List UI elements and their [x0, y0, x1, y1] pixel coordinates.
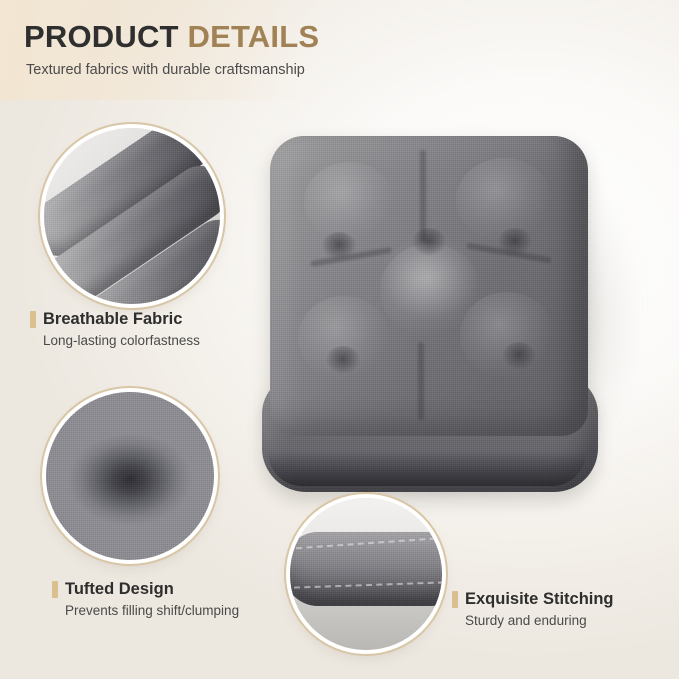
- feature-image-exquisite-stitching: [290, 498, 442, 650]
- tufted-dimple-swatch: [46, 392, 214, 560]
- feature-breathable-fabric: [44, 128, 220, 304]
- accent-bar-icon: [30, 311, 36, 328]
- accent-bar-icon: [52, 581, 58, 598]
- feature-image-breathable-fabric: [44, 128, 220, 304]
- fabric-weave-texture: [46, 392, 214, 560]
- feature-image-tufted-design: [46, 392, 214, 560]
- feature-subtitle: Long-lasting colorfastness: [43, 333, 200, 348]
- cushion-illustration: [262, 136, 602, 476]
- product-photo: [238, 88, 658, 508]
- caption-breathable-fabric: Breathable Fabric Long-lasting colorfast…: [30, 310, 200, 348]
- tuft-button: [498, 228, 532, 256]
- tuft-button: [322, 232, 356, 260]
- cushion-puff: [304, 162, 394, 242]
- feature-title: Exquisite Stitching: [452, 590, 614, 609]
- cushion-puff: [456, 158, 552, 242]
- cushion-seam: [418, 342, 424, 420]
- page-subtitle: Textured fabrics with durable craftsmans…: [26, 62, 444, 78]
- page-title-strong: PRODUCT: [24, 19, 188, 54]
- cushion-backrest: [270, 136, 588, 436]
- caption-tufted-design: Tufted Design Prevents filling shift/clu…: [52, 580, 239, 618]
- feature-tufted-design: [46, 392, 214, 560]
- feature-title-text: Tufted Design: [65, 580, 174, 599]
- feature-title-text: Exquisite Stitching: [465, 590, 614, 609]
- header: PRODUCT DETAILS Textured fabrics with du…: [24, 20, 444, 78]
- rolled-fabric-swatch: [44, 128, 220, 304]
- seat-front-edge: [268, 452, 586, 486]
- feature-title-text: Breathable Fabric: [43, 310, 182, 329]
- feature-title: Breathable Fabric: [30, 310, 200, 329]
- feature-subtitle: Prevents filling shift/clumping: [65, 603, 239, 618]
- tuft-button: [502, 342, 536, 370]
- tuft-button: [326, 346, 360, 374]
- fabric-weave-texture: [44, 128, 220, 304]
- page-title: PRODUCT DETAILS: [24, 20, 444, 54]
- feature-exquisite-stitching: [290, 498, 442, 650]
- caption-exquisite-stitching: Exquisite Stitching Sturdy and enduring: [452, 590, 614, 628]
- tuft-button: [412, 228, 446, 256]
- stitched-edge-swatch: [290, 498, 442, 650]
- page-title-accent: DETAILS: [188, 19, 320, 54]
- accent-bar-icon: [452, 591, 458, 608]
- feature-subtitle: Sturdy and enduring: [465, 613, 614, 628]
- feature-title: Tufted Design: [52, 580, 239, 599]
- product-details-infographic: PRODUCT DETAILS Textured fabrics with du…: [0, 0, 679, 679]
